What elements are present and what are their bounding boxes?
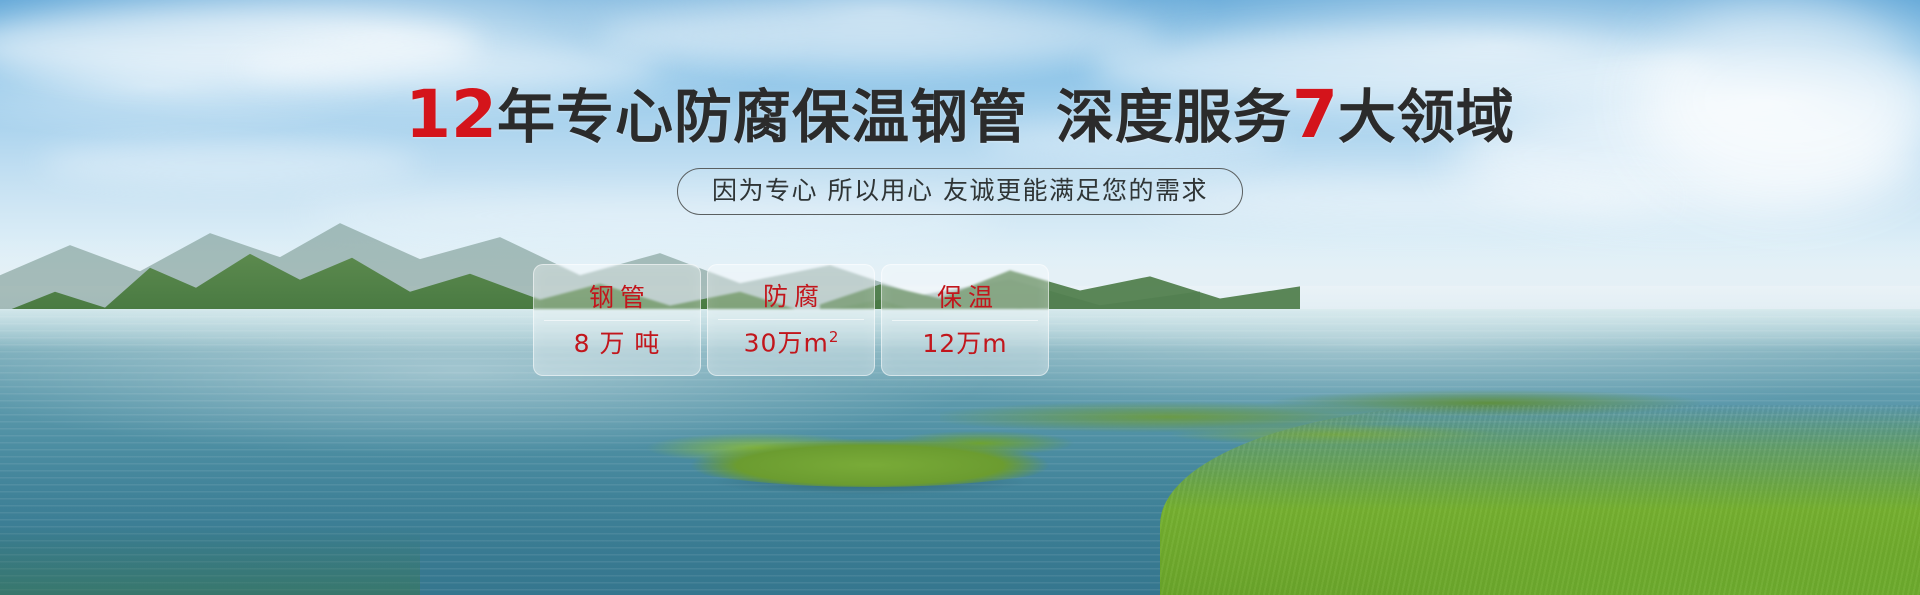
stat-card-value-text: 30万m xyxy=(744,329,829,358)
headline-tertiary-text: 大领域 xyxy=(1338,83,1515,151)
stat-card-value: 30万m2 xyxy=(744,330,839,355)
stat-card-steel-pipe[interactable]: 钢管 8 万 吨 xyxy=(533,264,701,376)
stat-card-anticorrosion[interactable]: 防腐 30万m2 xyxy=(707,264,875,376)
banner-headline: 12年专心防腐保温钢管深度服务7大领域 xyxy=(0,82,1920,148)
stat-card-value-superscript: 2 xyxy=(829,328,839,346)
stat-card-insulation[interactable]: 保温 12万m xyxy=(881,264,1049,376)
headline-secondary-text: 深度服务 xyxy=(1056,83,1292,151)
stat-card-label: 防腐 xyxy=(757,284,825,309)
headline-fields-number: 7 xyxy=(1292,76,1338,153)
stat-card-label: 钢管 xyxy=(583,285,651,310)
stat-card-divider xyxy=(544,320,690,321)
stat-card-value: 12万m xyxy=(922,331,1007,356)
stat-card-group: 钢管 8 万 吨 防腐 30万m2 保温 12万m xyxy=(533,264,1049,376)
stat-card-divider xyxy=(718,319,864,320)
stat-card-value: 8 万 吨 xyxy=(574,331,661,356)
hero-banner: 12年专心防腐保温钢管深度服务7大领域 因为专心 所以用心 友诚更能满足您的需求… xyxy=(0,0,1920,595)
headline-primary-text: 年专心防腐保温钢管 xyxy=(497,83,1028,151)
banner-subtitle-wrap: 因为专心 所以用心 友诚更能满足您的需求 xyxy=(0,168,1920,215)
stat-card-divider xyxy=(892,320,1038,321)
stat-card-label: 保温 xyxy=(931,285,999,310)
stat-card-value-text: 12万m xyxy=(922,329,1007,358)
stat-card-value-text: 8 万 吨 xyxy=(574,329,661,358)
headline-years-number: 12 xyxy=(405,76,497,153)
banner-subtitle-pill: 因为专心 所以用心 友诚更能满足您的需求 xyxy=(677,168,1243,215)
